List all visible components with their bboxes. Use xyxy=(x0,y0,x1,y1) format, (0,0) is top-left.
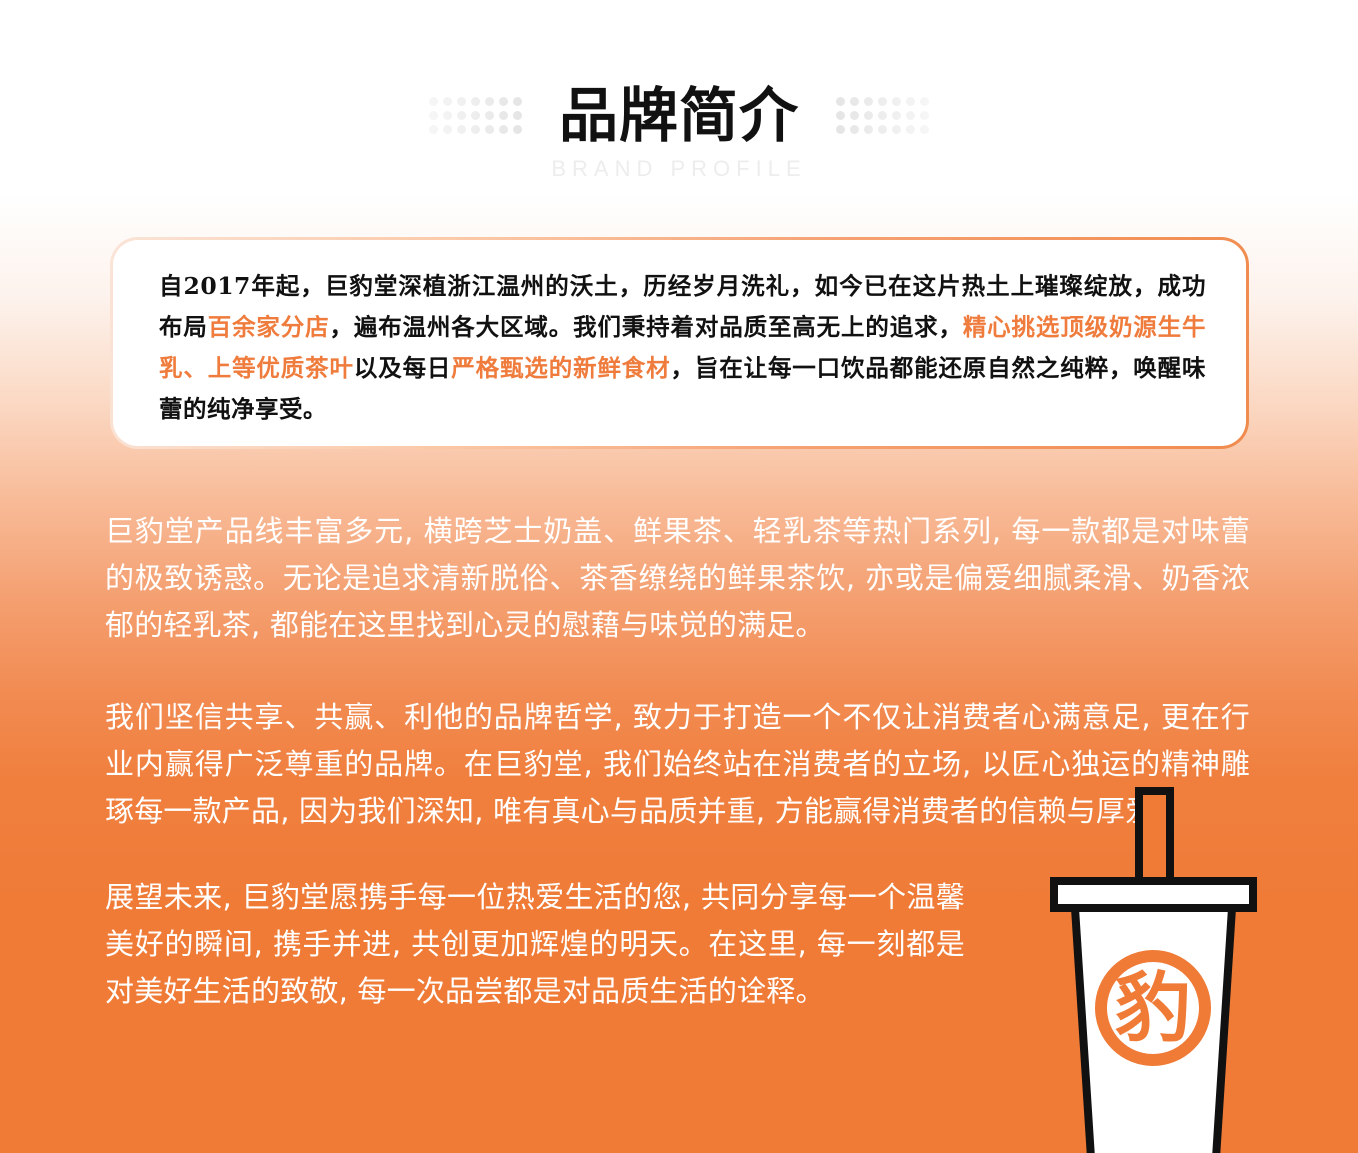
dot xyxy=(906,125,915,134)
dot xyxy=(836,125,845,134)
dot xyxy=(878,111,887,120)
dot xyxy=(485,125,494,134)
page-header: 品牌简介 BRAND PROFILE xyxy=(0,0,1358,200)
intro-card-text: 自2017年起，巨豹堂深植浙江温州的沃土，历经岁月洗礼，如今已在这片热土上璀璨绽… xyxy=(159,266,1206,430)
logo-badge: 豹 xyxy=(1101,956,1205,1060)
intro-card-inner: 自2017年起，巨豹堂深植浙江温州的沃土，历经岁月洗礼，如今已在这片热土上璀璨绽… xyxy=(113,240,1246,446)
intro-plain-text: ，遍布温州各大区域。我们秉持着对品质至高无上的追求， xyxy=(330,313,963,341)
dot xyxy=(457,97,466,106)
dot xyxy=(850,111,859,120)
dot xyxy=(513,97,522,106)
dot xyxy=(429,111,438,120)
intro-card: 自2017年起，巨豹堂深植浙江温州的沃土，历经岁月洗礼，如今已在这片热土上璀璨绽… xyxy=(110,237,1249,449)
dot xyxy=(513,111,522,120)
body-paragraph-3: 展望未来, 巨豹堂愿携手每一位热爱生活的您, 共同分享每一个温馨美好的瞬间, 携… xyxy=(105,874,965,1015)
dot-grid-icon-right xyxy=(833,95,931,137)
dot xyxy=(485,111,494,120)
dot xyxy=(513,125,522,134)
logo-character: 豹 xyxy=(1115,964,1191,1053)
dot xyxy=(471,125,480,134)
title-row: 品牌简介 xyxy=(0,86,1358,145)
dot xyxy=(471,97,480,106)
dot xyxy=(836,97,845,106)
dot xyxy=(429,125,438,134)
dot xyxy=(429,97,438,106)
page-subtitle: BRAND PROFILE xyxy=(0,158,1358,180)
dot xyxy=(499,125,508,134)
dot xyxy=(920,125,929,134)
straw-icon xyxy=(1139,791,1170,886)
dot xyxy=(906,111,915,120)
dot xyxy=(878,125,887,134)
dot xyxy=(850,125,859,134)
dot xyxy=(499,97,508,106)
dot xyxy=(878,97,887,106)
takeaway-cup-illustration: 豹 xyxy=(1020,780,1330,1153)
dot xyxy=(457,111,466,120)
dot xyxy=(892,97,901,106)
cup-lid xyxy=(1054,881,1253,908)
brand-profile-page: 品牌简介 BRAND PROFILE 自2017年起，巨豹堂深植浙江温州的沃土，… xyxy=(0,0,1358,1153)
dot-grid-icon-left xyxy=(427,95,525,137)
dot xyxy=(471,111,480,120)
dot xyxy=(864,125,873,134)
body-paragraph-1: 巨豹堂产品线丰富多元, 横跨芝士奶盖、鲜果茶、轻乳茶等热门系列, 每一款都是对味… xyxy=(105,508,1250,649)
dot xyxy=(499,111,508,120)
intro-accent-text: 百余家分店 xyxy=(208,313,330,341)
dot xyxy=(864,97,873,106)
dot xyxy=(920,97,929,106)
page-title: 品牌简介 xyxy=(559,86,799,145)
dot xyxy=(864,111,873,120)
intro-plain-text: 以及每日 xyxy=(354,354,451,382)
dot xyxy=(457,125,466,134)
dot xyxy=(443,111,452,120)
dot xyxy=(850,97,859,106)
intro-accent-text: 严格甄选的新鲜食材 xyxy=(451,354,670,382)
dot xyxy=(892,111,901,120)
dot xyxy=(443,97,452,106)
dot xyxy=(485,97,494,106)
dot xyxy=(836,111,845,120)
dot xyxy=(892,125,901,134)
dot xyxy=(906,97,915,106)
dot xyxy=(443,125,452,134)
dot xyxy=(920,111,929,120)
